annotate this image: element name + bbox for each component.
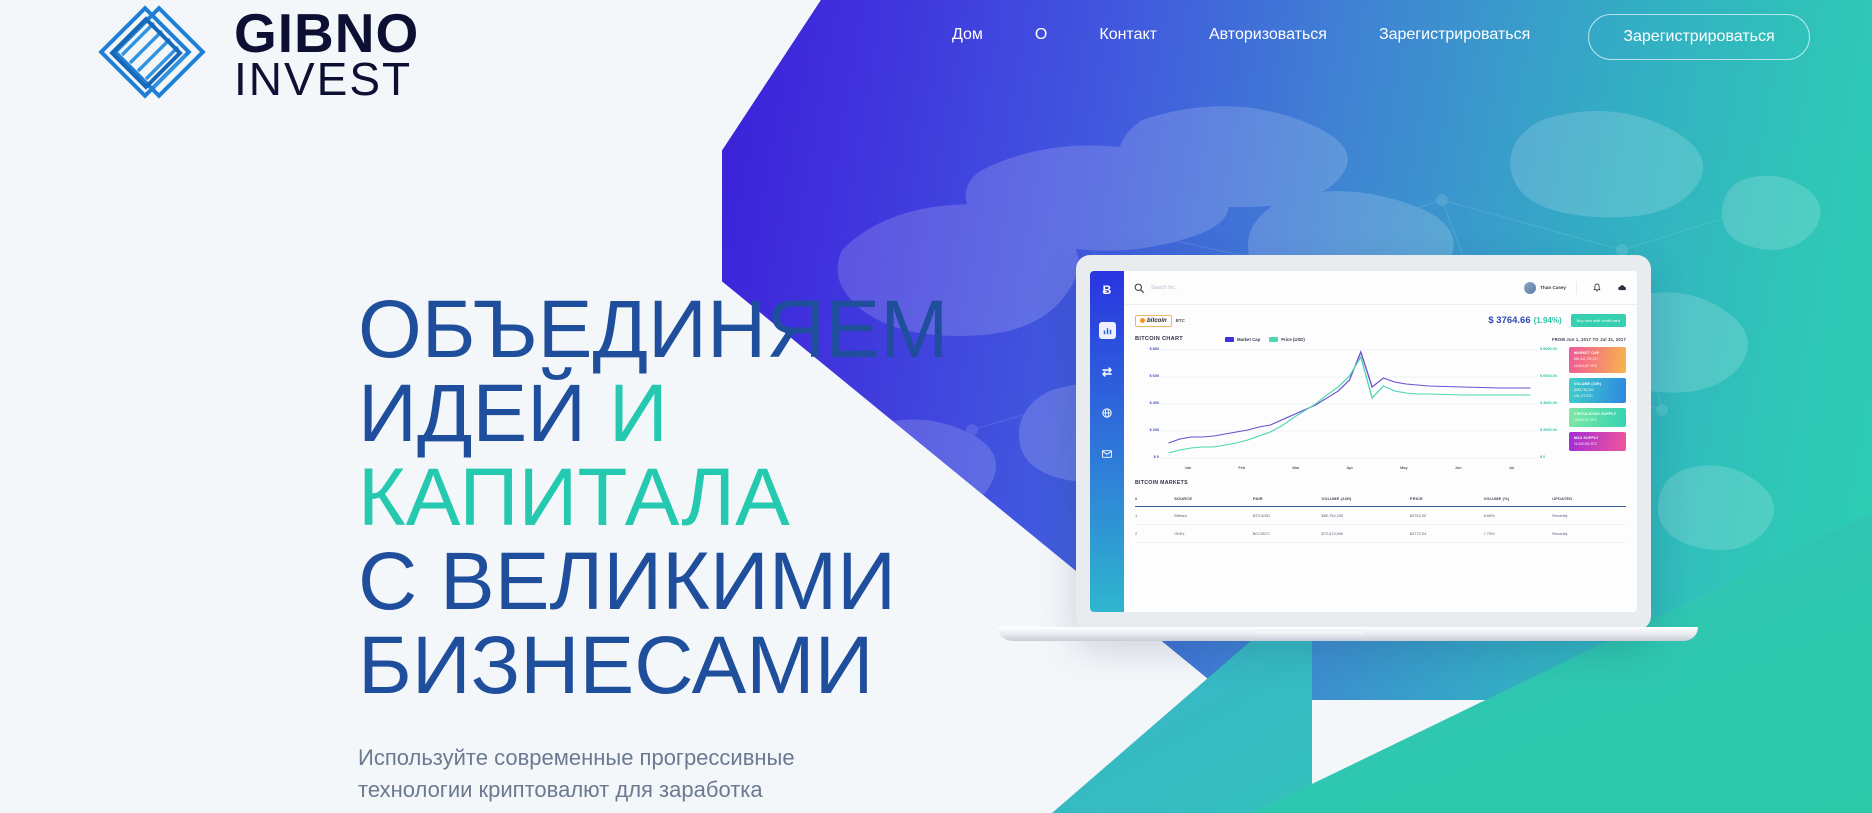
stat-card-title: VOLUME (24H)	[1574, 382, 1621, 386]
cell-volume-pct: 8.66%	[1484, 507, 1553, 525]
nav-item-about[interactable]: О	[1009, 26, 1073, 44]
markets-table: # SOURCE PAIR VOLUME (24H) PRICE VOLUME …	[1135, 492, 1626, 543]
x-tick-feb: Feb	[1238, 465, 1245, 470]
y-right-tick-4000: $ 4000.00	[1540, 401, 1557, 405]
dashboard-screen: Ƀ ⇄	[1090, 271, 1637, 612]
diamond-stack-icon	[92, 0, 220, 109]
y-left-tick-400: $ 400	[1149, 401, 1159, 405]
brand-wordmark: GIBNO INVEST	[234, 8, 419, 101]
col-index: #	[1135, 492, 1174, 507]
y-axis-right: $ 8000.00 $ 6000.00 $ 4000.00 $ 2000.00 …	[1538, 347, 1564, 465]
headline-line-2: ИДЕЙ	[358, 368, 609, 459]
legend-label-price: Price (USD)	[1281, 337, 1305, 342]
x-tick-jan: Jan	[1185, 465, 1192, 470]
laptop-mockup: Ƀ ⇄	[1020, 255, 1600, 655]
headline-line-2-accent: И	[609, 368, 668, 459]
stat-cards: MARKET CAP $62,441,731,217 16,584,287 BT…	[1564, 347, 1626, 465]
nav-item-register[interactable]: Зарегистрироваться	[1353, 26, 1556, 44]
col-price: PRICE	[1410, 492, 1484, 507]
x-tick-may: May	[1400, 465, 1408, 470]
user-name: Than Casey	[1540, 285, 1566, 290]
register-cta-button[interactable]: Зарегистрироваться	[1588, 14, 1810, 60]
headline-line-5: БИЗНЕСАМИ	[358, 620, 874, 711]
dashboard-topbar: Search for... Than Casey	[1124, 271, 1637, 305]
bitcoin-badge: bitcoin	[1135, 315, 1172, 327]
chart-svg	[1161, 347, 1538, 465]
dashboard-main: Search for... Than Casey	[1124, 271, 1637, 612]
y-left-tick-0: $ 0	[1154, 455, 1159, 459]
brand-name-line2: INVEST	[234, 58, 419, 100]
bar-chart-icon[interactable]	[1099, 322, 1116, 339]
chart-plot	[1161, 347, 1538, 465]
stat-card-title: CIRCULATING SUPPLY	[1574, 412, 1621, 416]
cloud-icon[interactable]	[1617, 283, 1627, 293]
cell-source: OKEx	[1174, 525, 1253, 543]
cell-index: 1	[1135, 507, 1174, 525]
legend-item-price: Price (USD)	[1269, 337, 1305, 342]
y-right-tick-6000: $ 6000.00	[1540, 374, 1557, 378]
cell-price: $3753.00	[1410, 507, 1484, 525]
chart-area: $ 800 $ 600 $ 400 $ 200 $ 0	[1135, 347, 1626, 465]
cell-volume24h: $72,673,000	[1322, 525, 1410, 543]
headline-line-4: С ВЕЛИКИМИ	[358, 536, 896, 627]
search-icon[interactable]	[1134, 283, 1144, 293]
headline-line-3-accent: КАПИТАЛА	[358, 452, 790, 543]
series-market-cap-line	[1169, 352, 1531, 443]
site-header: GIBNO INVEST Дом О Контакт Авторизоватьс…	[0, 0, 1872, 72]
cell-pair: BTC/USD	[1253, 507, 1322, 525]
coin-summary-row: bitcoin BTC $ 3764.66 (1.94%) Buy now wi…	[1135, 314, 1626, 327]
col-volume-pct: VOLUME (%)	[1484, 492, 1553, 507]
stat-card-title: MARKET CAP	[1574, 351, 1621, 355]
laptop-lid: Ƀ ⇄	[1076, 255, 1651, 630]
col-pair: PAIR	[1253, 492, 1322, 507]
col-volume24h: VOLUME (24H)	[1322, 492, 1410, 507]
x-tick-jul: Jul	[1509, 465, 1515, 470]
bitcoin-dot-icon	[1140, 318, 1145, 323]
search-input[interactable]: Search for...	[1151, 285, 1517, 291]
col-source: SOURCE	[1174, 492, 1253, 507]
chart-date-range: FROM Jun 1, 2017 TO Jul 31, 2017	[1552, 337, 1626, 342]
avatar	[1524, 282, 1536, 294]
stat-card-circulating-supply: CIRCULATING SUPPLY 16,584,287 BTC	[1569, 408, 1626, 427]
x-tick-jun: Jun	[1455, 465, 1462, 470]
nav-item-home[interactable]: Дом	[940, 26, 1009, 44]
table-row[interactable]: 2 OKEx BCC/BTC $72,673,000 $3772.04 7.73…	[1135, 525, 1626, 543]
cell-index: 2	[1135, 525, 1174, 543]
y-right-tick-0: $ 0	[1540, 455, 1545, 459]
stat-card-volume-24h: VOLUME (24H) $938,752,300 243,171 BTC	[1569, 378, 1626, 404]
y-left-tick-600: $ 600	[1149, 374, 1159, 378]
series-price-line	[1169, 357, 1531, 453]
chart-title: BITCOIN CHART	[1135, 336, 1183, 342]
dashboard-body: bitcoin BTC $ 3764.66 (1.94%) Buy now wi…	[1124, 305, 1637, 612]
bitcoin-logo-icon[interactable]: Ƀ	[1099, 281, 1116, 298]
coin-price: $ 3764.66	[1488, 315, 1530, 326]
x-tick-mar: Mar	[1292, 465, 1299, 470]
cell-volume-pct: 7.73%	[1484, 525, 1553, 543]
y-left-tick-200: $ 200	[1149, 428, 1159, 432]
stat-card-market-cap: MARKET CAP $62,441,731,217 16,584,287 BT…	[1569, 347, 1626, 373]
y-right-tick-2000: $ 2000.00	[1540, 428, 1557, 432]
dashboard-sidebar: Ƀ ⇄	[1090, 271, 1124, 612]
globe-icon[interactable]	[1099, 404, 1116, 421]
brand-name-line1: GIBNO	[234, 8, 419, 59]
cell-updated: Recently	[1552, 507, 1626, 525]
table-row[interactable]: 1 Bitfinex BTC/USD $80,794,200 $3753.00 …	[1135, 507, 1626, 525]
buy-now-button[interactable]: Buy now with credit card	[1571, 314, 1626, 327]
legend-label-market-cap: Market Cap	[1237, 337, 1260, 342]
hero-subcopy: Используйте современные прогрессивные те…	[358, 742, 828, 806]
cell-source: Bitfinex	[1174, 507, 1253, 525]
cell-volume24h: $80,794,200	[1322, 507, 1410, 525]
stat-card-value: 21,000,000 BTC	[1574, 442, 1621, 447]
coin-change: (1.94%)	[1534, 316, 1562, 325]
col-updated: UPDATED	[1552, 492, 1626, 507]
coin-symbol: BTC	[1176, 318, 1185, 323]
y-left-tick-800: $ 800	[1149, 347, 1159, 351]
cell-pair: BCC/BTC	[1253, 525, 1322, 543]
bar-chart-glyph	[1103, 326, 1112, 335]
stat-card-sub: 243,171 BTC	[1574, 394, 1621, 399]
legend-swatch-price	[1269, 337, 1278, 342]
stat-card-title: MAX SUPPLY	[1574, 436, 1621, 440]
laptop-notch	[1254, 629, 1366, 634]
x-tick-apr: Apr	[1346, 465, 1353, 470]
page-title: ОБЪЕДИНЯЕМ ИДЕЙ И КАПИТАЛА С ВЕЛИКИМИ БИ…	[358, 288, 948, 708]
cell-updated: Recently	[1552, 525, 1626, 543]
bell-icon[interactable]	[1592, 283, 1602, 293]
markets-title: BITCOIN MARKETS	[1135, 480, 1626, 486]
stat-card-sub: 16,584,287 BTC	[1574, 364, 1621, 369]
nav-item-login[interactable]: Авторизоваться	[1183, 26, 1353, 44]
stat-card-max-supply: MAX SUPPLY 21,000,000 BTC	[1569, 432, 1626, 451]
nav-item-contact[interactable]: Контакт	[1073, 26, 1183, 44]
globe-glyph	[1102, 408, 1112, 418]
primary-navigation: Дом О Контакт Авторизоваться Зарегистрир…	[940, 26, 1556, 44]
chart-legend: Market Cap Price (USD)	[1225, 337, 1305, 342]
stat-card-value: $62,441,731,217	[1574, 357, 1621, 362]
hero-section: ОБЪЕДИНЯЕМ ИДЕЙ И КАПИТАЛА С ВЕЛИКИМИ БИ…	[358, 288, 948, 806]
exchange-arrows-icon[interactable]: ⇄	[1099, 363, 1116, 380]
stat-card-value: 16,584,287 BTC	[1574, 418, 1621, 423]
coin-badge-name: bitcoin	[1147, 318, 1167, 324]
y-axis-left: $ 800 $ 600 $ 400 $ 200 $ 0	[1135, 347, 1161, 465]
chart-header: BITCOIN CHART Market Cap Price (USD)	[1135, 336, 1626, 342]
legend-swatch-market-cap	[1225, 337, 1234, 342]
table-header-row: # SOURCE PAIR VOLUME (24H) PRICE VOLUME …	[1135, 492, 1626, 507]
stat-card-value: $938,752,300	[1574, 388, 1621, 393]
user-menu[interactable]: Than Casey	[1524, 282, 1577, 294]
x-axis: Jan Feb Mar Apr May Jun Jul	[1161, 465, 1538, 470]
mail-icon[interactable]	[1099, 445, 1116, 462]
y-right-tick-8000: $ 8000.00	[1540, 347, 1557, 351]
legend-item-market-cap: Market Cap	[1225, 337, 1260, 342]
cell-price: $3772.04	[1410, 525, 1484, 543]
brand-logo[interactable]: GIBNO INVEST	[92, 0, 419, 109]
headline-line-1: ОБЪЕДИНЯЕМ	[358, 284, 948, 375]
mail-glyph	[1102, 450, 1112, 458]
